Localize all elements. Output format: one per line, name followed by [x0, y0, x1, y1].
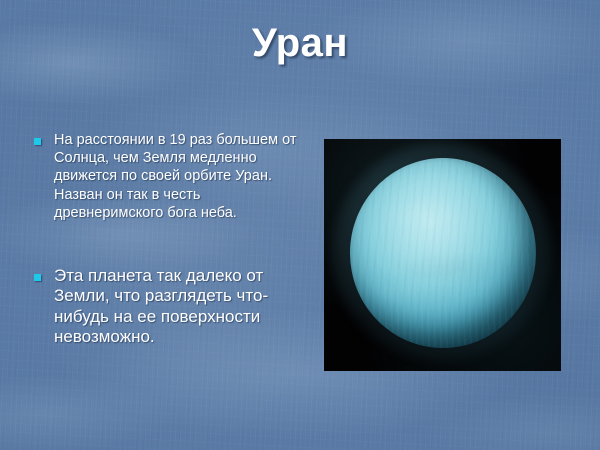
bullet-text: На расстоянии в 19 раз большем от Солнца… [54, 131, 312, 222]
planet-disc [350, 158, 536, 348]
bullet-item: На расстоянии в 19 раз большем от Солнца… [34, 131, 312, 222]
square-bullet-icon [34, 274, 41, 281]
bullet-text: Эта планета так далеко от Земли, что раз… [54, 266, 314, 348]
bullet-item: Эта планета так далеко от Земли, что раз… [34, 266, 314, 348]
square-bullet-icon [34, 138, 41, 145]
slide-title: Уран [0, 22, 600, 64]
uranus-planet-photo [324, 139, 561, 371]
presentation-slide: Уран На расстоянии в 19 раз большем от С… [0, 0, 600, 450]
